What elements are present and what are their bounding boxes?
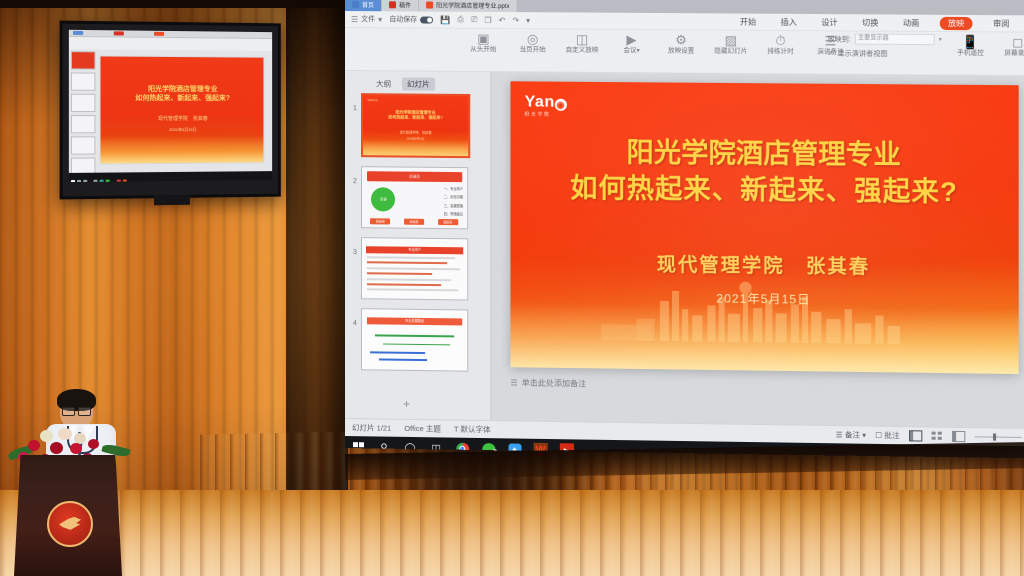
ribbon-right-group: 放映到: 主要显示器 ▾ ✓ 显示演讲者视图 📱 手机遥控	[827, 33, 1024, 64]
slide-counter: 幻灯片 1/21	[352, 422, 391, 434]
thumbnail-heading: 专业发展路径	[367, 318, 462, 326]
thumbnail-list[interactable]: 1 YanGo 阳光学院酒店管理专业如何热起来、新起来、强起来? 现代管理学院 …	[345, 93, 490, 394]
speaker-glasses	[62, 407, 91, 414]
logo-circle-icon: ◉	[555, 99, 567, 111]
play-from-current-button[interactable]: ◎ 当页开始	[512, 31, 552, 54]
hide-slide-label: 隐藏幻灯片	[714, 48, 747, 55]
autosave-toggle[interactable]: 自动保存	[389, 14, 433, 24]
tab-slideshow[interactable]: 放映	[940, 16, 973, 29]
chevron-down-icon: ▾	[378, 15, 382, 24]
show-settings-label: 放映设置	[668, 47, 694, 54]
tab-start[interactable]: 开始	[736, 15, 760, 28]
thumbnail-circle-graphic: 目录	[371, 188, 395, 212]
copy-icon[interactable]: ❐	[484, 15, 491, 24]
comment-button-label: 批注	[884, 431, 899, 440]
rehearse-timing-label: 排练计时	[767, 48, 793, 55]
presentation-icon	[426, 2, 433, 9]
font-icon: T	[454, 425, 458, 434]
thumbnail-chip: 热起来	[370, 218, 390, 224]
play-from-start-label: 从头开始	[470, 46, 496, 53]
list-item[interactable]: 3 专业简介	[349, 237, 490, 301]
play-from-start-icon: ▣	[463, 31, 503, 46]
list-item[interactable]: 2 目录页 目录 一、专业简介 二、存在问题 三、发展思路 四、举措建议 热起来…	[349, 166, 490, 230]
undo-icon[interactable]: ↶	[499, 15, 506, 24]
autosave-switch[interactable]	[420, 16, 433, 23]
ribbon-slideshow-group: ▣ 从头开始 ◎ 当页开始 ◫ 自定义放映 ▶ 会议▾	[345, 28, 1024, 76]
thumbnail-subtitle: 现代管理学院 张其春	[363, 129, 468, 135]
list-item[interactable]: 1 YanGo 阳光学院酒店管理专业如何热起来、新起来、强起来? 现代管理学院 …	[349, 93, 490, 158]
university-crest	[47, 501, 93, 547]
slide-number: 2	[349, 166, 361, 185]
monitor-workspace: 阳光学院酒店管理专业 如何热起来、新起来、强起来? 现代管理学院 张其春 202…	[69, 49, 272, 173]
slide-navigator-panel: 大纲 幻灯片 1 YanGo 阳光学院酒店管理专业如何热起来、新起来、强起来?	[345, 71, 491, 420]
show-settings-icon: ⚙	[661, 32, 702, 47]
play-from-current-icon: ◎	[512, 31, 552, 46]
thumbnail-heading: 专业简介	[366, 246, 463, 254]
skyline-graphic	[541, 277, 947, 344]
comment-icon: ☐	[875, 431, 882, 440]
tab-animation[interactable]: 动画	[899, 16, 924, 29]
monitor-slide-preview: 阳光学院酒店管理专业 如何热起来、新起来、强起来? 现代管理学院 张其春 202…	[100, 55, 265, 164]
font-status[interactable]: T 默认字体	[454, 424, 491, 436]
panel-tab-row: 大纲 幻灯片	[345, 71, 490, 95]
notes-placeholder: 单击此处添加备注	[522, 377, 587, 389]
meeting-icon: ▶	[611, 32, 651, 47]
monitor-slide-date: 2021年5月15日	[101, 127, 264, 133]
hide-slide-icon: ▨	[711, 32, 752, 47]
normal-view-icon[interactable]	[909, 430, 922, 441]
slide-thumbnail-2[interactable]: 目录页 目录 一、专业简介 二、存在问题 三、发展思路 四、举措建议 热起来 新…	[361, 166, 468, 229]
thumbnail-heading: 目录页	[367, 171, 462, 182]
podium	[14, 455, 122, 576]
display-select[interactable]: 主要显示器	[855, 33, 935, 45]
slide-thumbnail-1[interactable]: YanGo 阳光学院酒店管理专业如何热起来、新起来、强起来? 现代管理学院 张其…	[361, 93, 470, 158]
custom-show-button[interactable]: ◫ 自定义放映	[562, 31, 602, 54]
save-icon[interactable]: 💾	[440, 15, 450, 24]
document-tab[interactable]: 稿件	[382, 0, 418, 11]
slide-thumbnail-4[interactable]: 专业发展路径	[361, 308, 468, 371]
logo-subtext: 阳光学院	[525, 112, 567, 118]
tab-review[interactable]: 审阅	[989, 17, 1014, 30]
notes-pane[interactable]: ☰ 单击此处添加备注	[510, 373, 1018, 398]
monitor-thumbnail-strip	[71, 51, 96, 171]
document-tab[interactable]: 阳光学院酒店管理专业.pptx	[419, 0, 516, 12]
custom-show-label: 自定义放映	[566, 47, 599, 54]
thumbnail-bullet: 四、举措建议	[444, 211, 463, 216]
thumbnail-chip: 新起来	[404, 219, 424, 225]
list-item[interactable]: 4 专业发展路径	[349, 308, 490, 372]
print-icon[interactable]: ⎙	[457, 15, 463, 25]
document-icon	[389, 1, 396, 8]
slide-sorter-icon[interactable]	[931, 432, 942, 441]
tab-insert[interactable]: 插入	[777, 15, 801, 28]
tab-slides[interactable]: 幻灯片	[402, 77, 435, 90]
theme-label[interactable]: Office 主题	[404, 423, 441, 435]
thumbnail-skyline	[363, 140, 468, 157]
document-tab-label: 首页	[362, 0, 374, 9]
tab-outline[interactable]: 大纲	[371, 77, 396, 90]
home-tab-icon	[352, 1, 359, 8]
phone-remote-icon: 📱	[952, 34, 989, 49]
preview-icon[interactable]: ⎚	[471, 15, 477, 25]
slide-number: 4	[349, 308, 361, 327]
confidence-monitor: 阳光学院酒店管理专业 如何热起来、新起来、强起来? 现代管理学院 张其春 202…	[60, 21, 281, 200]
hamburger-icon: ☰	[351, 15, 358, 24]
redo-icon[interactable]: ↷	[512, 16, 519, 25]
file-menu-label: 文件	[361, 14, 375, 24]
presenter-view-label: 显示演讲者视图	[838, 48, 888, 58]
current-slide[interactable]: Yan◉ 阳光学院 阳光学院酒店管理专业 如何热起来、新起来、强起来? 现代管理…	[510, 81, 1018, 374]
monitor-taskbar	[69, 171, 272, 182]
slide-title-line2: 如何热起来、新起来、强起来?	[510, 170, 1018, 211]
thumbnail-bullet: 二、存在问题	[444, 194, 463, 199]
play-from-start-button[interactable]: ▣ 从头开始	[463, 31, 503, 54]
presenter-view-checkbox[interactable]: ✓ 显示演讲者视图	[827, 48, 941, 59]
screen-record-label: 屏幕录制	[1004, 50, 1024, 57]
editor-workspace: 大纲 幻灯片 1 YanGo 阳光学院酒店管理专业如何热起来、新起来、强起来?	[345, 71, 1024, 428]
customize-icon[interactable]: ▾	[526, 16, 530, 25]
phone-remote-button[interactable]: 📱 手机遥控	[952, 34, 989, 58]
hide-slide-button[interactable]: ▨ 隐藏幻灯片	[711, 32, 752, 55]
document-tab-label: 阳光学院酒店管理专业.pptx	[436, 1, 509, 10]
slide-canvas-area: Yan◉ 阳光学院 阳光学院酒店管理专业 如何热起来、新起来、强起来? 现代管理…	[491, 72, 1024, 428]
thumbnail-title: 阳光学院酒店管理专业如何热起来、新起来、强起来?	[363, 110, 468, 121]
tab-design[interactable]: 设计	[817, 16, 841, 29]
projected-desktop: 首页 稿件 阳光学院酒店管理专业.pptx ☰ 文件 ▾	[345, 0, 1024, 459]
notes-icon: ☰	[836, 430, 843, 439]
notes-icon: ☰	[510, 378, 517, 387]
autosave-label: 自动保存	[389, 14, 417, 24]
play-from-current-label: 当页开始	[520, 46, 546, 53]
rehearse-timing-icon: ⏱	[760, 33, 801, 48]
check-icon: ✓	[827, 49, 833, 57]
monitor-stand	[154, 195, 190, 205]
notes-button-label: 备注	[845, 430, 860, 439]
slide-number: 3	[349, 237, 361, 256]
chevron-down-icon[interactable]: ▾	[939, 36, 942, 43]
projection-screen: 首页 稿件 阳光学院酒店管理专业.pptx ☰ 文件 ▾	[345, 0, 1024, 448]
meeting-button[interactable]: ▶ 会议▾	[611, 32, 651, 55]
slide-number: 1	[349, 93, 361, 112]
yango-logo: Yan◉ 阳光学院	[525, 94, 567, 117]
document-tab-label: 稿件	[399, 0, 411, 9]
zoom-slider[interactable]	[974, 436, 1021, 438]
logo-wordmark: Yan◉	[525, 94, 567, 110]
display-to-label: 放映到:	[827, 34, 850, 44]
notes-toggle-button[interactable]: ☰ 备注 ▾	[836, 429, 866, 441]
chevron-down-icon: ▾	[862, 431, 866, 440]
thumbnail-bullet: 一、专业简介	[444, 186, 463, 191]
stage-floor-reflection	[0, 490, 1024, 576]
thumbnail-chip: 强起来	[438, 219, 458, 225]
conference-hall-scene: 阳光学院酒店管理专业 如何热起来、新起来、强起来? 现代管理学院 张其春 202…	[0, 0, 1024, 576]
slide-title-line1: 阳光学院酒店管理专业	[510, 133, 1018, 174]
comment-button[interactable]: ☐ 批注	[875, 430, 899, 441]
rehearse-timing-button[interactable]: ⏱ 排练计时	[760, 33, 801, 56]
tab-transition[interactable]: 切换	[858, 16, 882, 29]
monitor-slide-subtitle: 现代管理学院 张其春	[101, 115, 264, 122]
monitor-skyline-graphic	[101, 135, 264, 163]
screen-record-button[interactable]: ◻ 屏幕录制	[999, 34, 1024, 58]
show-settings-button[interactable]: ⚙ 放映设置	[661, 32, 702, 55]
crest-bird-icon	[59, 517, 81, 530]
monitor-slide-title: 阳光学院酒店管理专业 如何热起来、新起来、强起来?	[101, 84, 264, 102]
thumbnail-bullet: 三、发展思路	[444, 203, 463, 208]
phone-remote-label: 手机遥控	[957, 49, 984, 56]
screen-record-icon: ◻	[999, 34, 1024, 49]
add-slide-button[interactable]: +	[403, 397, 410, 411]
slide-title: 阳光学院酒店管理专业 如何热起来、新起来、强起来?	[510, 133, 1018, 210]
display-settings-group: 放映到: 主要显示器 ▾ ✓ 显示演讲者视图	[827, 33, 941, 63]
file-menu-button[interactable]: ☰ 文件 ▾	[351, 14, 382, 24]
reading-view-icon[interactable]	[952, 431, 965, 442]
slide-thumbnail-3[interactable]: 专业简介	[361, 237, 468, 300]
meeting-label: 会议	[623, 47, 636, 54]
custom-show-icon: ◫	[562, 31, 602, 46]
ribbon-tab-strip: 开始 插入 设计 切换 动画 放映 审阅	[736, 14, 1024, 32]
confidence-monitor-screen: 阳光学院酒店管理专业 如何热起来、新起来、强起来? 现代管理学院 张其春 202…	[69, 30, 272, 182]
font-label: 默认字体	[461, 425, 491, 434]
thumbnail-logo: YanGo	[367, 98, 378, 102]
document-tab[interactable]: 首页	[345, 0, 381, 11]
